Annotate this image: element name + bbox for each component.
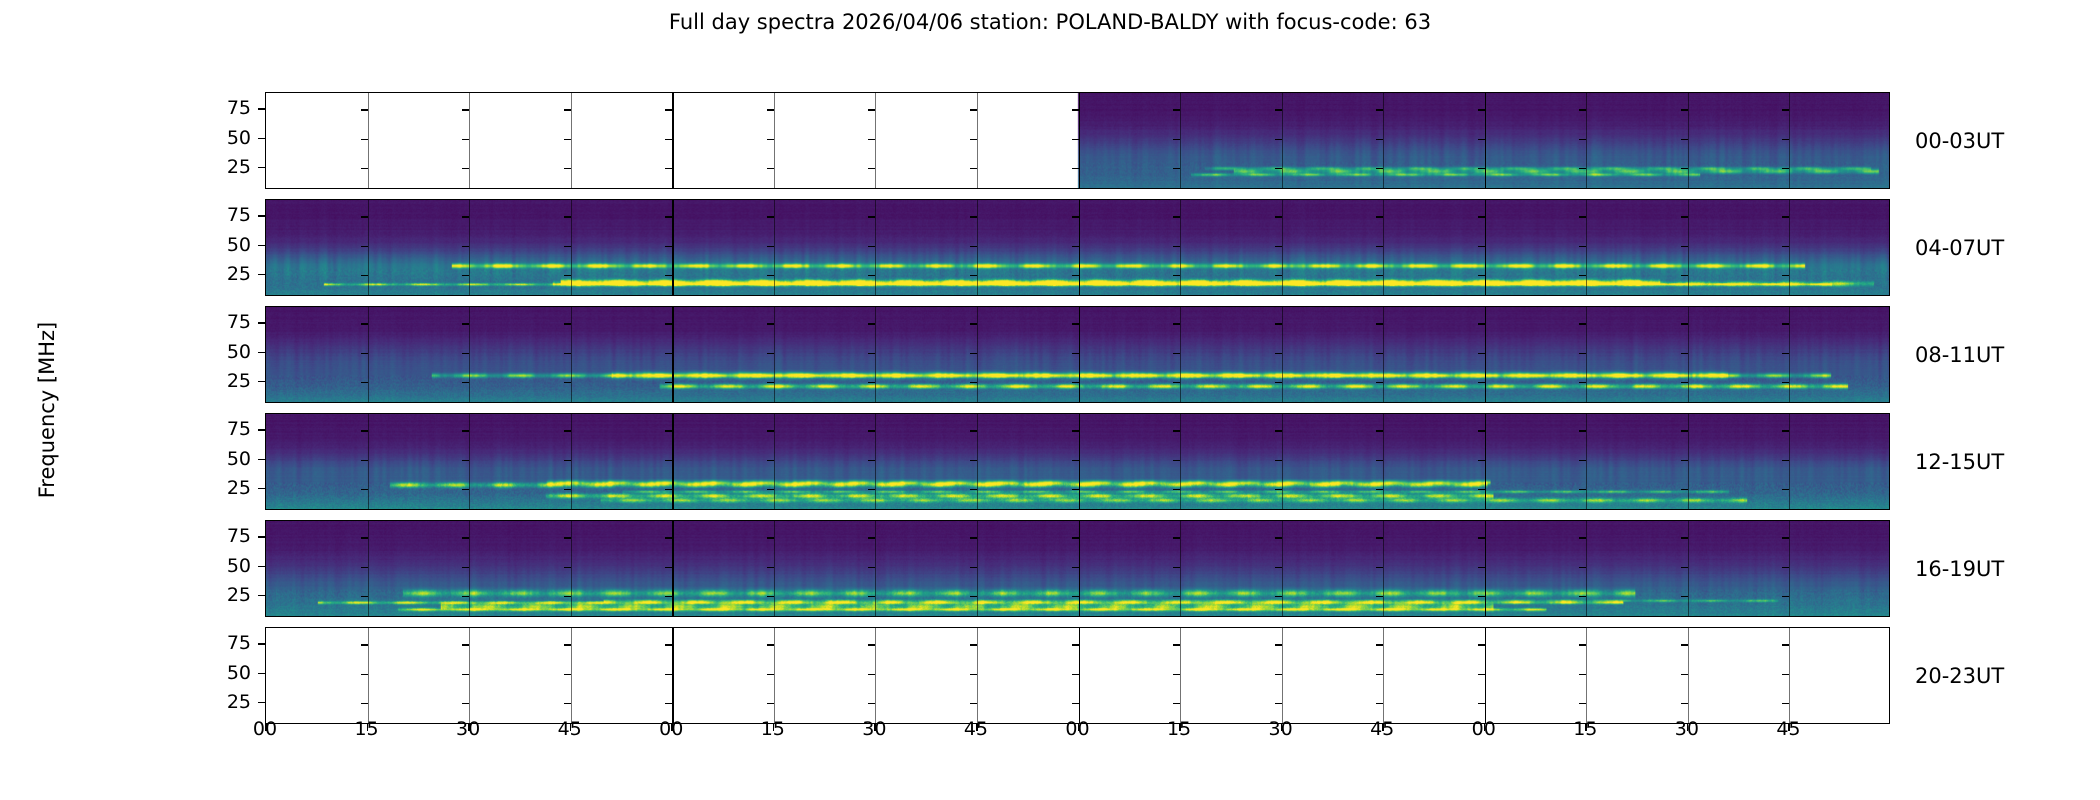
spectrogram-image — [266, 307, 1889, 402]
y-tick-label: 75 — [207, 418, 251, 440]
spectrogram-image — [266, 200, 1889, 295]
spectrogram-image — [266, 93, 1889, 188]
spectrogram-row-12-15ut[interactable] — [265, 413, 1890, 510]
y-tick-mark — [258, 322, 265, 324]
y-tick-mark — [258, 352, 265, 354]
x-tick-label: 15 — [1167, 718, 1191, 740]
x-tick-label: 15 — [761, 718, 785, 740]
x-tick-label: 30 — [1269, 718, 1293, 740]
y-tick-mark — [258, 488, 265, 490]
y-tick-mark — [258, 167, 265, 169]
y-tick-label: 50 — [207, 341, 251, 363]
x-tick-label: 30 — [456, 718, 480, 740]
y-tick-label: 75 — [207, 97, 251, 119]
spectrogram-image — [266, 628, 1889, 723]
y-tick-label: 50 — [207, 662, 251, 684]
y-tick-mark — [258, 643, 265, 645]
row-label-00-03ut: 00-03UT — [1915, 129, 2004, 153]
x-tick-label: 45 — [558, 718, 582, 740]
y-tick-label: 25 — [207, 691, 251, 713]
spectrogram-row-20-23ut[interactable] — [265, 627, 1890, 724]
y-tick-mark — [258, 274, 265, 276]
x-tick-label: 30 — [1675, 718, 1699, 740]
spectrogram-image — [266, 521, 1889, 616]
spectrogram-figure: Full day spectra 2026/04/06 station: POL… — [0, 0, 2100, 800]
figure-title: Full day spectra 2026/04/06 station: POL… — [0, 10, 2100, 34]
spectrogram-row-16-19ut[interactable] — [265, 520, 1890, 617]
y-tick-label: 75 — [207, 311, 251, 333]
y-tick-mark — [258, 245, 265, 247]
y-tick-label: 50 — [207, 448, 251, 470]
spectrogram-row-04-07ut[interactable] — [265, 199, 1890, 296]
y-tick-mark — [258, 138, 265, 140]
x-tick-label: 00 — [253, 718, 277, 740]
y-tick-label: 25 — [207, 584, 251, 606]
x-tick-label: 45 — [1776, 718, 1800, 740]
x-tick-label: 45 — [1370, 718, 1394, 740]
y-tick-mark — [258, 429, 265, 431]
spectrogram-row-08-11ut[interactable] — [265, 306, 1890, 403]
y-tick-label: 25 — [207, 263, 251, 285]
x-tick-label: 15 — [354, 718, 378, 740]
y-tick-label: 75 — [207, 525, 251, 547]
y-tick-mark — [258, 673, 265, 675]
x-tick-label: 30 — [862, 718, 886, 740]
y-tick-mark — [258, 595, 265, 597]
y-tick-mark — [258, 566, 265, 568]
y-tick-label: 25 — [207, 370, 251, 392]
row-label-20-23ut: 20-23UT — [1915, 664, 2004, 688]
y-tick-mark — [258, 108, 265, 110]
y-tick-label: 50 — [207, 234, 251, 256]
row-label-12-15ut: 12-15UT — [1915, 450, 2004, 474]
x-tick-label: 15 — [1573, 718, 1597, 740]
y-tick-label: 25 — [207, 477, 251, 499]
y-tick-label: 50 — [207, 555, 251, 577]
y-tick-mark — [258, 381, 265, 383]
x-tick-label: 00 — [1065, 718, 1089, 740]
y-tick-mark — [258, 702, 265, 704]
row-label-08-11ut: 08-11UT — [1915, 343, 2004, 367]
y-tick-mark — [258, 536, 265, 538]
y-axis-label: Frequency [MHz] — [35, 90, 59, 730]
y-tick-label: 75 — [207, 632, 251, 654]
y-tick-label: 25 — [207, 156, 251, 178]
row-label-04-07ut: 04-07UT — [1915, 236, 2004, 260]
y-tick-label: 50 — [207, 127, 251, 149]
spectrogram-image — [266, 414, 1889, 509]
spectrogram-row-00-03ut[interactable] — [265, 92, 1890, 189]
x-tick-label: 45 — [964, 718, 988, 740]
y-tick-label: 75 — [207, 204, 251, 226]
x-tick-label: 00 — [1472, 718, 1496, 740]
y-tick-mark — [258, 215, 265, 217]
y-tick-mark — [258, 459, 265, 461]
x-tick-label: 00 — [659, 718, 683, 740]
row-label-16-19ut: 16-19UT — [1915, 557, 2004, 581]
